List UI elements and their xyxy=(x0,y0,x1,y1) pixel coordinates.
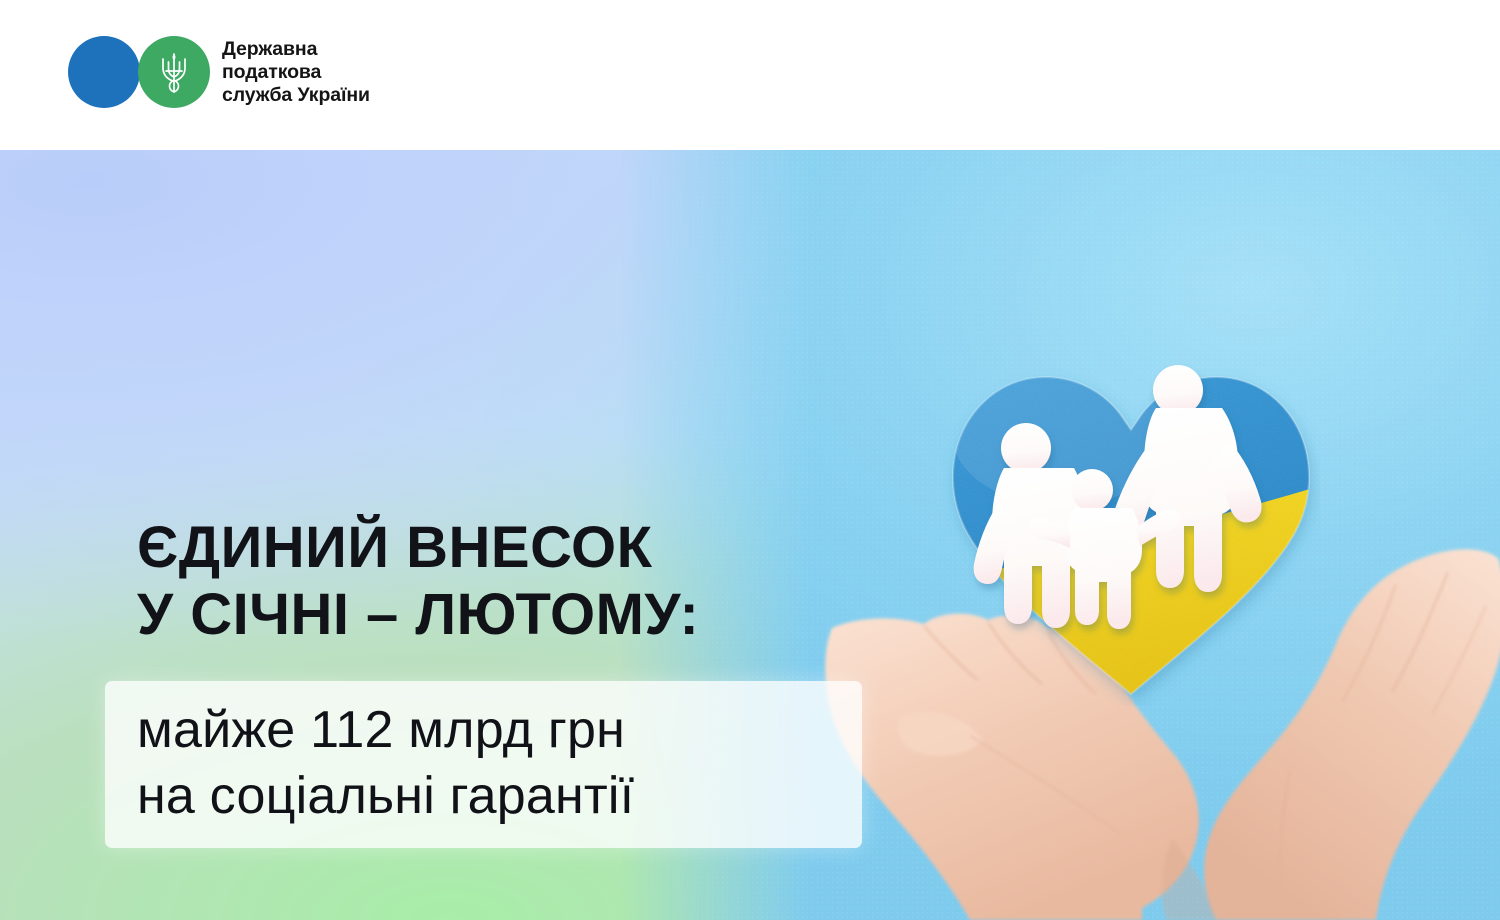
org-name-line-2: податкова xyxy=(222,61,370,84)
header-bar: Державна податкова служба України xyxy=(0,0,1500,150)
organization-name: Державна податкова служба України xyxy=(222,38,370,107)
org-name-line-1: Державна xyxy=(222,38,370,61)
blue-circle-icon xyxy=(68,36,140,108)
highlight-statement: майже 112 млрд грн на соціальні гарантії xyxy=(137,698,634,829)
headline-line-1: ЄДИНИЙ ВНЕСОК xyxy=(137,514,699,581)
paper-family-cutout xyxy=(942,338,1320,706)
logo-marks xyxy=(68,36,210,108)
artwork-stage: ЄДИНИЙ ВНЕСОК У СІЧНІ – ЛЮТОМУ: майже 11… xyxy=(0,150,1500,920)
headline-line-2: У СІЧНІ – ЛЮТОМУ: xyxy=(137,581,699,648)
highlight-line-2: на соціальні гарантії xyxy=(137,764,634,830)
organization-logo[interactable]: Державна податкова служба України xyxy=(68,36,370,108)
promo-banner: Державна податкова служба України xyxy=(0,0,1500,920)
highlight-line-1: майже 112 млрд грн xyxy=(137,698,634,764)
ukrainian-trident-emblem-icon xyxy=(138,36,210,108)
page-title: ЄДИНИЙ ВНЕСОК У СІЧНІ – ЛЮТОМУ: xyxy=(137,514,699,649)
org-name-line-3: служба України xyxy=(222,84,370,107)
